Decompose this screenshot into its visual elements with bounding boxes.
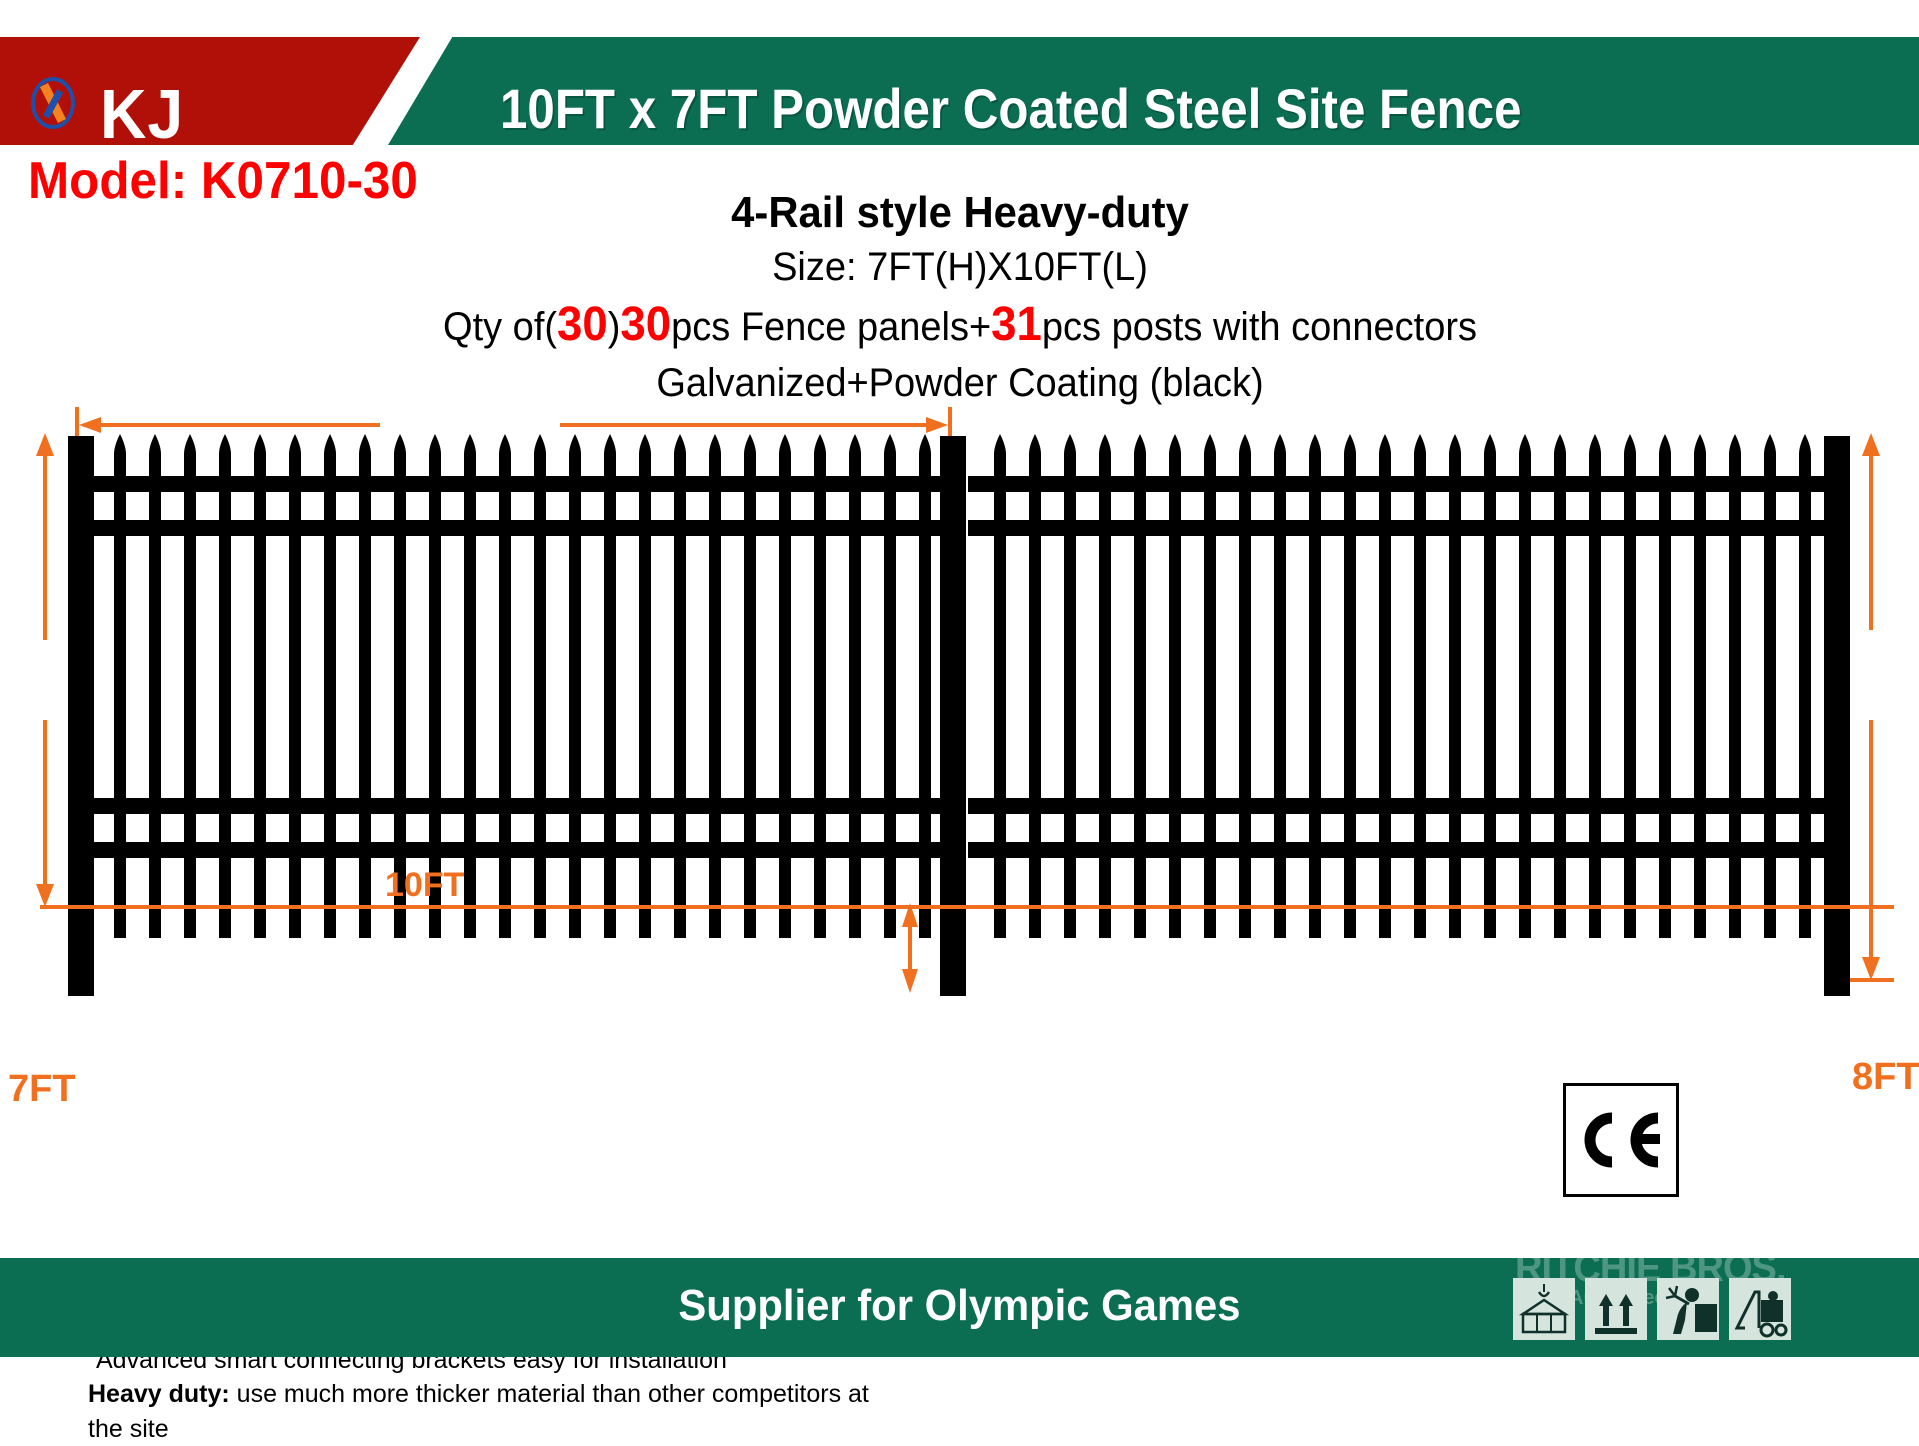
qty-close-paren: ) — [608, 305, 621, 349]
spec-quantity: Qty of(30)30pcs Fence panels+31pcs posts… — [314, 293, 1606, 356]
qty-prefix: Qty of( — [443, 305, 557, 349]
fence-post-left — [68, 436, 94, 996]
picket-group-right — [994, 434, 1811, 938]
dimension-1ft — [902, 903, 918, 993]
qty-panels-value: 30 — [620, 298, 671, 351]
dimension-7ft — [36, 433, 54, 907]
rail-top-2 — [88, 520, 950, 536]
qty-mid-text: pcs Fence panels+ — [671, 305, 991, 349]
page-title: 10FT x 7FT Powder Coated Steel Site Fenc… — [500, 81, 1521, 137]
spec-size: Size: 7FT(H)X10FT(L) — [314, 241, 1606, 293]
qty-paren-value: 30 — [557, 298, 608, 351]
dimension-label-10ft: 10FT — [385, 868, 464, 902]
fence-post-middle — [940, 436, 966, 996]
qty-suffix-text: pcs posts with connectors — [1042, 305, 1477, 349]
features-heavy-duty-label: Heavy duty: — [88, 1380, 230, 1408]
specification-block: 4-Rail style Heavy-duty Size: 7FT(H)X10F… — [280, 185, 1640, 409]
rail-top-1 — [88, 476, 950, 492]
features-line-2: Heavy duty: use much more thicker materi… — [88, 1377, 908, 1446]
rail-bottom-1-right — [968, 798, 1830, 814]
rail-bottom-1 — [88, 798, 950, 814]
dimension-label-7ft: 7FT — [8, 1070, 76, 1108]
kj-swoosh-logo-icon — [26, 77, 80, 131]
dimension-label-8ft: 8FT — [1852, 1058, 1919, 1096]
qty-posts-value: 31 — [991, 298, 1042, 351]
header-banner: KJ 10FT x 7FT Powder Coated Steel Site F… — [0, 37, 1919, 145]
dimension-8ft — [1848, 433, 1894, 980]
footer-banner: Supplier for Olympic Games — [0, 1258, 1919, 1357]
ce-mark-icon — [1578, 1112, 1664, 1168]
picket-group-left — [114, 434, 931, 938]
fence-panel-left — [88, 434, 950, 938]
fence-post-right — [1824, 436, 1850, 996]
brand-name: KJ — [100, 79, 184, 149]
rail-top-2-right — [968, 520, 1830, 536]
fence-panel-right — [968, 434, 1830, 938]
spec-style: 4-Rail style Heavy-duty — [314, 185, 1606, 241]
ce-mark-badge — [1563, 1083, 1679, 1197]
rail-top-1-right — [968, 476, 1830, 492]
footer-text: Supplier for Olympic Games — [48, 1284, 1871, 1328]
